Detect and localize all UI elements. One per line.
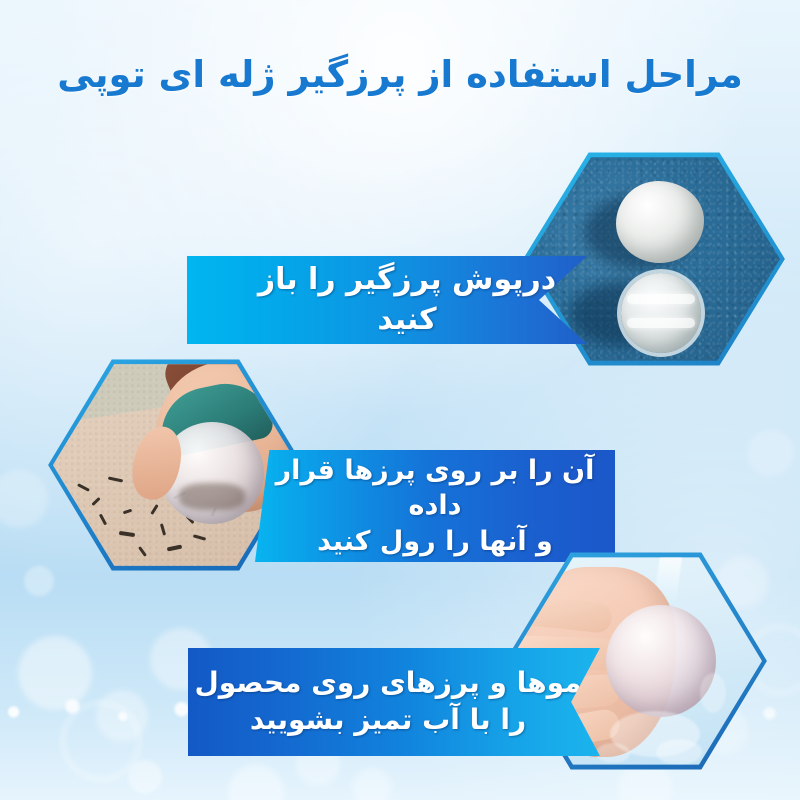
step-3-banner: موها و پرزهای روی محصول را با آب تمیز بش… [188,648,600,756]
step-1-line-1: درپوش پرزگیر را باز کنید [227,260,587,339]
lint-ball-washing [606,605,716,717]
lint-ball-open-lid [621,273,701,353]
infographic-canvas: مراحل استفاده از پرزگیر ژله ای توپی درپو… [0,0,800,800]
water-splash [596,743,630,763]
water-splash [700,673,726,713]
step-2-banner: آن را بر روی پرزها قرار داده و آنها را ر… [255,450,615,562]
step-1-banner: درپوش پرزگیر را باز کنید [187,256,587,344]
lint-ball-closed [616,181,704,263]
page-title: مراحل استفاده از پرزگیر ژله ای توپی [0,52,800,98]
step-2-line-1: آن را بر روی پرزها قرار داده [255,453,615,524]
step-2-banner-text: آن را بر روی پرزها قرار داده و آنها را ر… [255,453,615,560]
step-1-banner-text: درپوش پرزگیر را باز کنید [227,260,587,339]
step-3-line-1: موها و پرزهای روی محصول [188,665,588,702]
water-splash [656,739,702,765]
step-3-line-2: را با آب تمیز بشویید [188,702,588,739]
collected-lint [179,483,246,510]
step-3-banner-text: موها و پرزهای روی محصول را با آب تمیز بش… [188,665,588,739]
step-2-line-2: و آنها را رول کنید [255,524,615,560]
